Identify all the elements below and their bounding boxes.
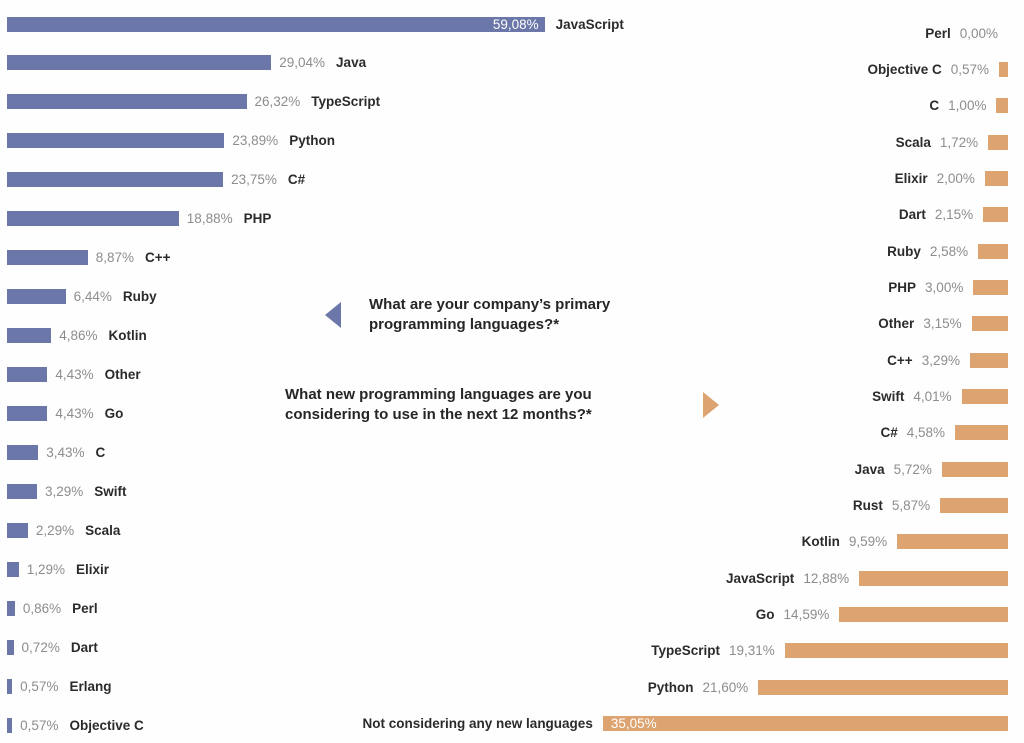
bar-value: 3,29%: [922, 353, 960, 368]
bar-with-inline-value: 35,05%: [603, 716, 1008, 731]
bar-category-label: Ruby: [123, 289, 157, 304]
bar-value: 3,43%: [46, 445, 84, 460]
bar-row: 8,87%C++: [7, 248, 171, 268]
bar: [970, 353, 1008, 368]
bar-category-label: PHP: [244, 211, 272, 226]
bar: [7, 250, 88, 265]
bar: [962, 389, 1008, 404]
bar-category-label: TypeScript: [651, 643, 720, 658]
bar: [7, 523, 28, 538]
bar-category-label: Other: [878, 316, 914, 331]
bar: [983, 207, 1008, 222]
bar-row: Kotlin9,59%: [802, 532, 1008, 552]
bar: [988, 135, 1008, 150]
bar-category-label: Scala: [896, 135, 931, 150]
bar-row: PHP3,00%: [888, 277, 1008, 297]
bar-value: 0,57%: [951, 62, 989, 77]
bar-category-label: Objective C: [69, 718, 143, 733]
bar-category-label: Objective C: [867, 62, 941, 77]
bar-row: Swift4,01%: [872, 387, 1008, 407]
bar: [942, 462, 1008, 477]
bar-value: 21,60%: [703, 680, 749, 695]
bar-row: Objective C0,57%: [867, 59, 1008, 79]
bar-value: 2,58%: [930, 244, 968, 259]
bar-row: 0,72%Dart: [7, 637, 98, 657]
bar-row: 4,43%Go: [7, 404, 123, 424]
bar: [7, 17, 545, 32]
bar-category-label: JavaScript: [726, 571, 794, 586]
bar: [7, 133, 224, 148]
bar: [897, 534, 1008, 549]
bar-category-label: Swift: [94, 484, 126, 499]
bar-value: 5,87%: [892, 498, 930, 513]
bar: [758, 680, 1008, 695]
bar: [7, 55, 271, 70]
bar: [7, 445, 38, 460]
bar-row: 26,32%TypeScript: [7, 92, 380, 112]
bar-row: 23,75%C#: [7, 170, 305, 190]
bar: [785, 643, 1008, 658]
bar-value: 8,87%: [96, 250, 134, 265]
bar-value: 0,72%: [22, 640, 60, 655]
bar: [7, 94, 247, 109]
bar-row: Dart2,15%: [899, 205, 1008, 225]
bar-value: 4,86%: [59, 328, 97, 343]
bar-value: 2,00%: [937, 171, 975, 186]
bar: [7, 601, 15, 616]
triangle-right-icon: [703, 392, 719, 418]
bar: [7, 484, 37, 499]
bar: [7, 367, 47, 382]
bar-value: 9,59%: [849, 534, 887, 549]
bar-row: Java5,72%: [855, 459, 1008, 479]
bar-category-label: Dart: [899, 207, 926, 222]
bar-category-label: Elixir: [76, 562, 109, 577]
bar-category-label: C: [95, 445, 105, 460]
bar: [7, 679, 12, 694]
bar: [7, 289, 66, 304]
bar-category-label: Java: [336, 55, 366, 70]
bar: [839, 607, 1008, 622]
bar-row: 23,89%Python: [7, 131, 335, 151]
bar-value: 4,01%: [913, 389, 951, 404]
bar-row: C1,00%: [929, 96, 1008, 116]
bar-value: 0,00%: [960, 26, 998, 41]
bar-category-label: Ruby: [887, 244, 921, 259]
bar-row: C#4,58%: [881, 423, 1008, 443]
bar-row: 0,86%Perl: [7, 598, 98, 618]
primary-languages-chart: 59,08%JavaScript29,04%Java26,32%TypeScri…: [0, 0, 600, 743]
bar-row: 18,88%PHP: [7, 209, 271, 229]
bar-row: Ruby2,58%: [887, 241, 1008, 261]
bar-category-label: Python: [648, 680, 694, 695]
bar-category-label: Other: [105, 367, 141, 382]
new-languages-chart: Perl0,00%Objective C0,57%C1,00%Scala1,72…: [544, 0, 1024, 743]
bar-value: 23,89%: [232, 133, 278, 148]
bar: [7, 406, 47, 421]
bar-row: Scala1,72%: [896, 132, 1008, 152]
bar: [603, 716, 1008, 731]
bar-value: 2,29%: [36, 523, 74, 538]
bar-row: JavaScript12,88%: [726, 568, 1008, 588]
bar: [955, 425, 1008, 440]
bar-row: 59,08%JavaScript: [7, 14, 624, 34]
bar-row: 2,29%Scala: [7, 520, 120, 540]
bar-category-label: Go: [756, 607, 775, 622]
bar-row: 4,86%Kotlin: [7, 326, 147, 346]
bar: [940, 498, 1008, 513]
bar-row: Elixir2,00%: [895, 168, 1008, 188]
bar-row: Not considering any new languages35,05%: [363, 714, 1008, 734]
bar-value: 14,59%: [784, 607, 830, 622]
bar-row: 4,43%Other: [7, 365, 141, 385]
bar-value: 6,44%: [74, 289, 112, 304]
bar-category-label: Kotlin: [802, 534, 840, 549]
bar: [7, 328, 51, 343]
bar-value: 19,31%: [729, 643, 775, 658]
bar-value: 1,00%: [948, 98, 986, 113]
bar-category-label: Perl: [72, 601, 98, 616]
question-primary-languages: What are your company’s primary programm…: [325, 295, 679, 336]
bar-category-label: Go: [105, 406, 124, 421]
bar-row: 0,57%Erlang: [7, 676, 111, 696]
bar-value: 0,57%: [20, 718, 58, 733]
bar: [996, 98, 1008, 113]
bar: [7, 718, 12, 733]
bar-row: Go14,59%: [756, 605, 1008, 625]
bar: [973, 280, 1008, 295]
bar: [7, 640, 14, 655]
bar-value: 59,08%: [493, 17, 539, 32]
bar: [978, 244, 1008, 259]
bar-category-label: Python: [289, 133, 335, 148]
bar-row: Other3,15%: [878, 314, 1008, 334]
bar-value: 4,43%: [55, 406, 93, 421]
bar-value: 4,58%: [907, 425, 945, 440]
bar-value: 29,04%: [279, 55, 325, 70]
bar-category-label: Perl: [925, 26, 951, 41]
bar-category-label: C#: [881, 425, 898, 440]
bar-category-label: C: [929, 98, 939, 113]
bar-row: TypeScript19,31%: [651, 641, 1008, 661]
bar-value: 5,72%: [894, 462, 932, 477]
bar-value: 12,88%: [803, 571, 849, 586]
bar-value: 3,15%: [923, 316, 961, 331]
bar-category-label: Swift: [872, 389, 904, 404]
bar-category-label: C++: [145, 250, 171, 265]
bar-row: Rust5,87%: [853, 496, 1008, 516]
bar-category-label: Java: [855, 462, 885, 477]
bar-category-label: Erlang: [69, 679, 111, 694]
bar-value: 3,29%: [45, 484, 83, 499]
bar-row: C++3,29%: [887, 350, 1008, 370]
bar-row: Python21,60%: [648, 677, 1008, 697]
bar-value: 35,05%: [611, 716, 657, 731]
bar: [7, 172, 223, 187]
triangle-left-icon: [325, 302, 341, 328]
bar-value: 3,00%: [925, 280, 963, 295]
bar-category-label: Scala: [85, 523, 120, 538]
bar: [999, 62, 1008, 77]
bar-value: 0,57%: [20, 679, 58, 694]
bar-value: 23,75%: [231, 172, 277, 187]
bar-value: 26,32%: [255, 94, 301, 109]
bar-category-label: PHP: [888, 280, 916, 295]
bar: [7, 211, 179, 226]
bar: [972, 316, 1008, 331]
bar-row: 3,29%Swift: [7, 481, 126, 501]
bar-category-label: Dart: [71, 640, 98, 655]
bar-category-label: Rust: [853, 498, 883, 513]
bar-category-label: C++: [887, 353, 913, 368]
question-new-languages: What new programming languages are you c…: [285, 385, 719, 426]
bar-category-label: Kotlin: [109, 328, 147, 343]
bar: [985, 171, 1008, 186]
bar-category-label: C#: [288, 172, 305, 187]
bar: [7, 562, 19, 577]
bar-value: 2,15%: [935, 207, 973, 222]
bar-category-label: Not considering any new languages: [363, 716, 593, 731]
bar-with-inline-value: 59,08%: [7, 17, 545, 32]
bar-value: 0,86%: [23, 601, 61, 616]
question-new-text: What new programming languages are you c…: [285, 385, 675, 426]
bar-category-label: TypeScript: [311, 94, 380, 109]
bar-row: 29,04%Java: [7, 53, 366, 73]
bar-value: 1,72%: [940, 135, 978, 150]
bar: [859, 571, 1008, 586]
bar-category-label: Elixir: [895, 171, 928, 186]
bar-row: Perl0,00%: [925, 23, 1008, 43]
question-primary-text: What are your company’s primary programm…: [369, 295, 679, 336]
bar-row: 1,29%Elixir: [7, 559, 109, 579]
bar-value: 18,88%: [187, 211, 233, 226]
bar-row: 0,57%Objective C: [7, 715, 144, 735]
bar-row: 3,43%C: [7, 442, 105, 462]
bar-value: 4,43%: [55, 367, 93, 382]
bar-value: 1,29%: [27, 562, 65, 577]
bar-row: 6,44%Ruby: [7, 287, 157, 307]
